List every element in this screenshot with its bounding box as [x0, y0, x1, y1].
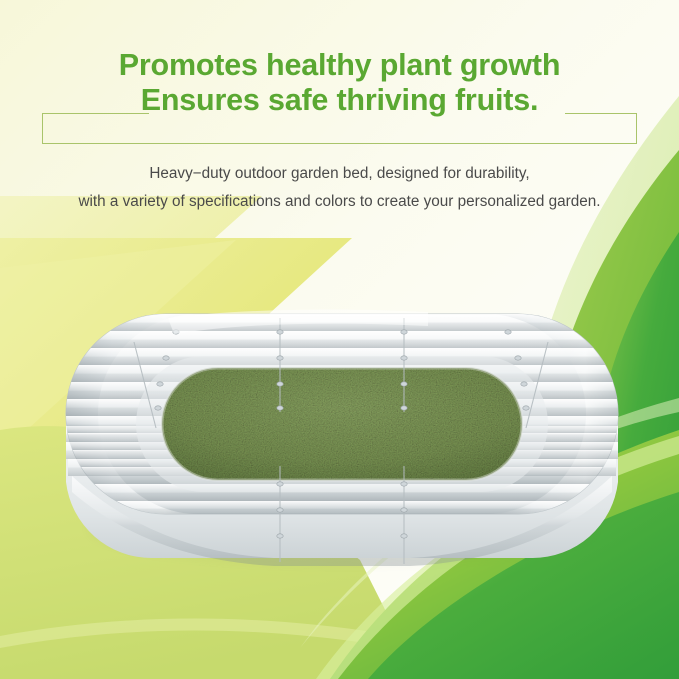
description-line-1: Heavy−duty outdoor garden bed, designed …	[0, 160, 679, 188]
soil-fill	[162, 368, 522, 480]
headline-line-1: Promotes healthy plant growth	[0, 48, 679, 83]
description-block: Heavy−duty outdoor garden bed, designed …	[0, 160, 679, 216]
product-image-raised-garden-bed	[48, 296, 636, 606]
headline-block: Promotes healthy plant growth Ensures sa…	[0, 48, 679, 118]
headline-line-2: Ensures safe thriving fruits.	[0, 83, 679, 118]
product-banner: Promotes healthy plant growth Ensures sa…	[0, 0, 679, 679]
garden-bed-illustration	[48, 296, 636, 606]
description-line-2: with a variety of specifications and col…	[0, 188, 679, 216]
